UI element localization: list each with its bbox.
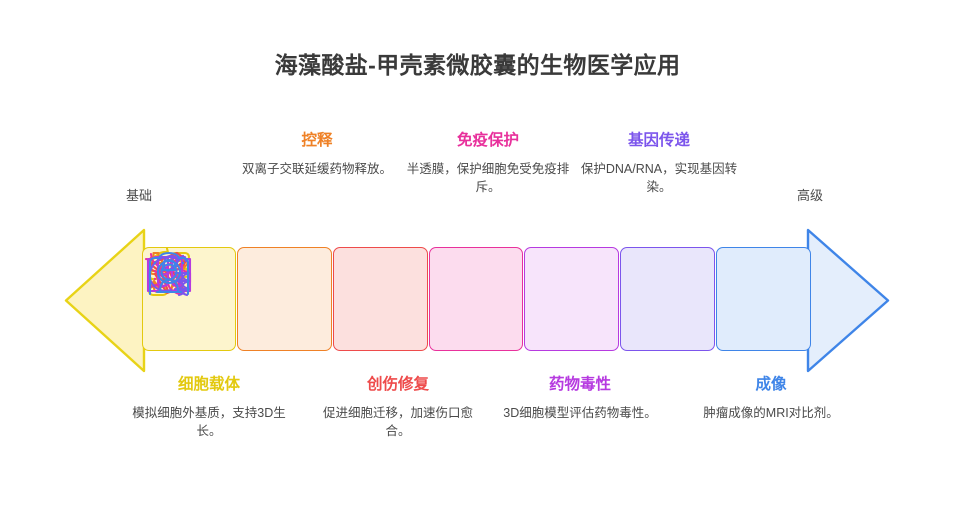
scale-label-basic: 基础: [94, 185, 184, 204]
callout-stage-2: 控释 双离子交联延缓药物释放。: [232, 132, 402, 178]
stage-cell-list: [141, 247, 811, 351]
page-title: 海藻酸盐-甲壳素微胶囊的生物医学应用: [0, 46, 955, 80]
callout-stage-6: 基因传递 保护DNA/RNA，实现基因转染。: [574, 132, 744, 197]
callout-desc: 3D细胞模型评估药物毒性。: [495, 404, 665, 423]
stage-cell-7[interactable]: [716, 247, 811, 351]
arrow-band: [64, 228, 892, 373]
callout-desc: 模拟细胞外基质，支持3D生长。: [124, 404, 294, 441]
callout-stage-4: 免疫保护 半透膜，保护细胞免受免疫排斥。: [403, 132, 573, 197]
callout-title: 创伤修复: [313, 376, 483, 395]
stage-cell-2[interactable]: [237, 247, 332, 351]
callout-stage-5: 药物毒性 3D细胞模型评估药物毒性。: [495, 376, 665, 422]
callout-desc: 肿瘤成像的MRI对比剂。: [686, 404, 856, 423]
callout-title: 控释: [232, 132, 402, 151]
callout-desc: 双离子交联延缓药物释放。: [232, 160, 402, 179]
stage-cell-3[interactable]: [333, 247, 428, 351]
stage-cell-4[interactable]: [429, 247, 524, 351]
infographic-page: 海藻酸盐-甲壳素微胶囊的生物医学应用 基础 高级: [0, 0, 955, 528]
callout-desc: 保护DNA/RNA，实现基因转染。: [574, 160, 744, 197]
callout-title: 成像: [686, 376, 856, 395]
callout-title: 药物毒性: [495, 376, 665, 395]
callout-stage-3: 创伤修复 促进细胞迁移，加速伤口愈合。: [313, 376, 483, 441]
callout-desc: 促进细胞迁移，加速伤口愈合。: [313, 404, 483, 441]
callout-title: 免疫保护: [403, 132, 573, 151]
callout-desc: 半透膜，保护细胞免受免疫排斥。: [403, 160, 573, 197]
callout-stage-7: 成像 肿瘤成像的MRI对比剂。: [686, 376, 856, 422]
stage-cell-5[interactable]: [524, 247, 619, 351]
right-arrowhead: [808, 230, 888, 371]
scale-label-advanced: 高级: [765, 185, 855, 204]
left-arrowhead: [66, 230, 144, 371]
stage-cell-6[interactable]: [620, 247, 715, 351]
callout-title: 细胞载体: [124, 376, 294, 395]
callout-stage-1: 细胞载体 模拟细胞外基质，支持3D生长。: [124, 376, 294, 441]
callout-title: 基因传递: [574, 132, 744, 151]
